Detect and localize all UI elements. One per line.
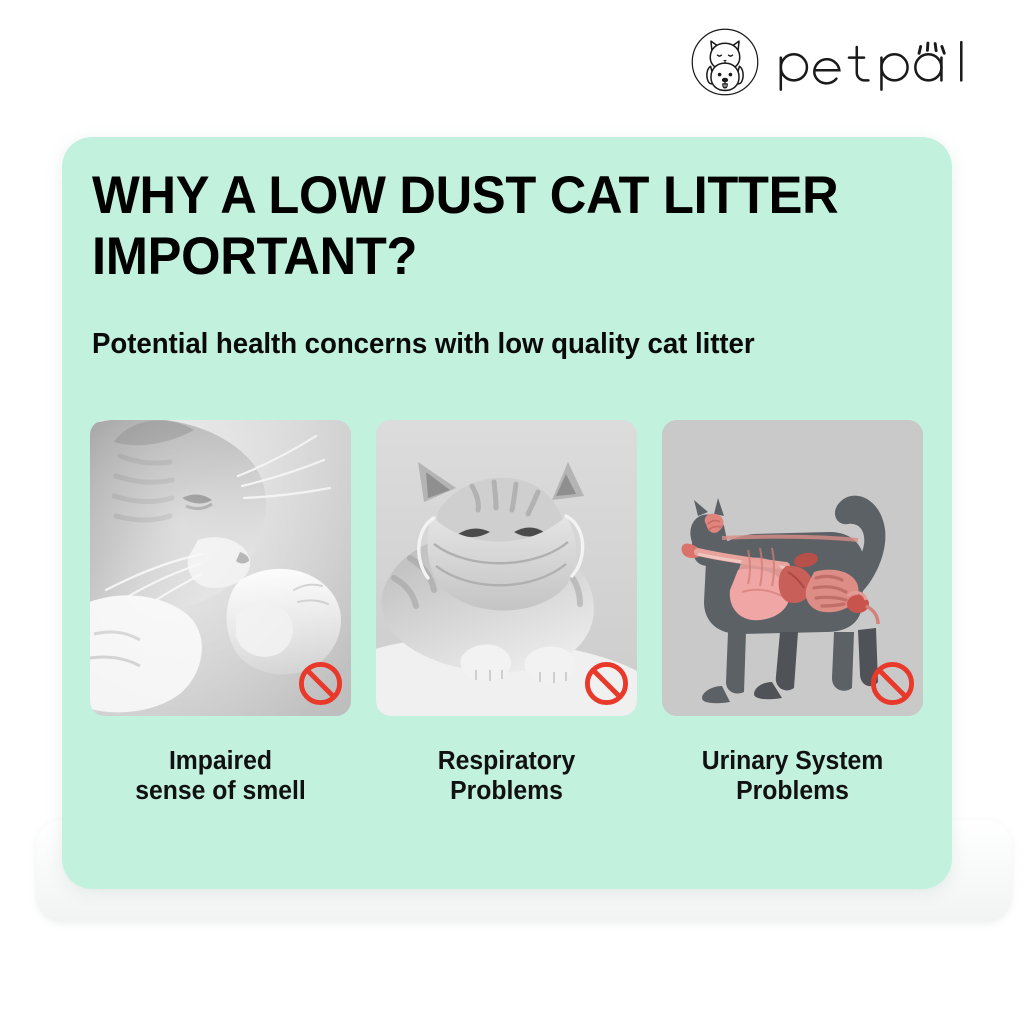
panel-caption-line2: Problems (380, 776, 633, 806)
no-entry-prohibited-icon (583, 660, 630, 707)
panel-caption-line2: sense of smell (94, 776, 347, 806)
page-title: WHY A LOW DUST CAT LITTER IMPORTANT? (92, 165, 885, 288)
panel-caption-line1: Urinary System (666, 746, 919, 776)
concern-panel-respiratory: Respiratory Problems (376, 420, 637, 806)
no-entry-prohibited-icon (297, 660, 344, 707)
panel-caption: Urinary System Problems (666, 746, 919, 806)
cat-dog-face-circle-icon (689, 26, 761, 98)
panel-caption: Impaired sense of smell (94, 746, 347, 806)
petpal-wordmark (775, 32, 990, 92)
cat-internal-anatomy-illustration (662, 420, 923, 716)
content-card: WHY A LOW DUST CAT LITTER IMPORTANT? Pot… (62, 137, 952, 889)
brand-logo (689, 26, 990, 98)
panel-caption-line1: Impaired (94, 746, 347, 776)
panel-caption-line1: Respiratory (380, 746, 633, 776)
concern-panels: Impaired sense of smell (90, 420, 924, 806)
concern-panel-impaired-smell: Impaired sense of smell (90, 420, 351, 806)
page-subtitle: Potential health concerns with low quali… (92, 327, 913, 361)
cat-wearing-face-mask-grayscale-photo (376, 420, 637, 716)
no-entry-prohibited-icon (869, 660, 916, 707)
infographic-canvas: WHY A LOW DUST CAT LITTER IMPORTANT? Pot… (0, 0, 1024, 1024)
paw-toes-accent-icon (919, 43, 944, 53)
cat-sniffing-closeup-grayscale-photo (90, 420, 351, 716)
panel-caption: Respiratory Problems (380, 746, 633, 806)
panel-caption-line2: Problems (666, 776, 919, 806)
concern-panel-urinary: Urinary System Problems (662, 420, 923, 806)
